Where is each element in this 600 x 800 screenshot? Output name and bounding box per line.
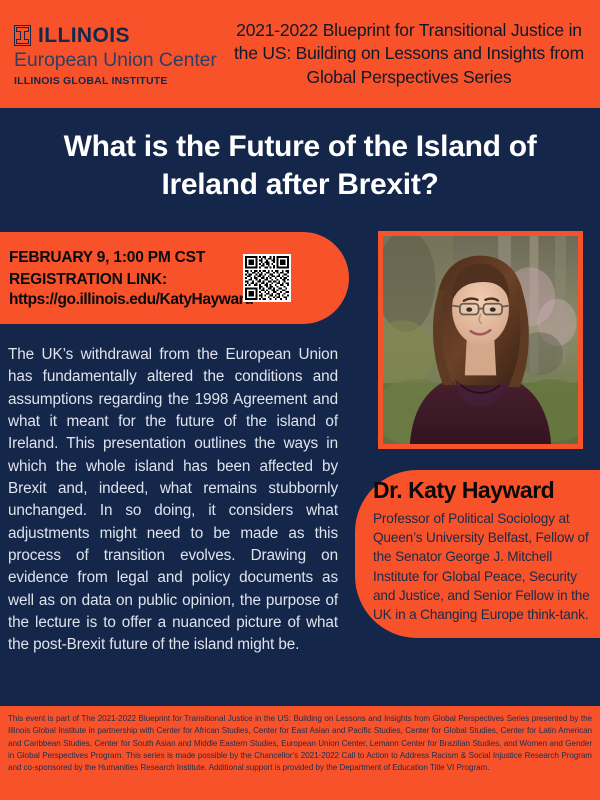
- poster-header: ILLINOIS European Union Center ILLINOIS …: [0, 0, 600, 108]
- logo-unit-name: European Union Center: [14, 49, 228, 71]
- footer-credits: This event is part of The 2021-2022 Blue…: [8, 713, 592, 774]
- registration-link-label: REGISTRATION LINK:: [9, 269, 240, 291]
- illinois-block-i-icon: [14, 25, 31, 46]
- logo-illinois-wordmark: ILLINOIS: [38, 25, 130, 46]
- illinois-euc-logo: ILLINOIS European Union Center ILLINOIS …: [0, 21, 228, 87]
- logo-parent-org: ILLINOIS GLOBAL INSTITUTE: [14, 75, 228, 87]
- registration-box: FEBRUARY 9, 1:00 PM CST REGISTRATION LIN…: [0, 232, 349, 324]
- event-title-banner: What is the Future of the Island of Irel…: [0, 112, 600, 220]
- registration-url[interactable]: https://go.illinois.edu/KatyHayward: [9, 291, 240, 309]
- event-poster: ILLINOIS European Union Center ILLINOIS …: [0, 0, 600, 800]
- event-title: What is the Future of the Island of Irel…: [22, 128, 578, 205]
- speaker-bio: Professor of Political Sociology at Quee…: [373, 509, 596, 625]
- speaker-photo: [378, 231, 583, 449]
- speaker-name: Dr. Katy Hayward: [373, 478, 596, 504]
- registration-text: FEBRUARY 9, 1:00 PM CST REGISTRATION LIN…: [0, 247, 240, 309]
- event-description: The UK’s withdrawal from the European Un…: [8, 344, 338, 657]
- logo-wordmark-row: ILLINOIS: [14, 25, 228, 46]
- poster-footer: This event is part of The 2021-2022 Blue…: [0, 706, 600, 800]
- qr-code-icon[interactable]: [243, 254, 291, 302]
- series-title: 2021-2022 Blueprint for Transitional Jus…: [228, 19, 600, 89]
- event-datetime: FEBRUARY 9, 1:00 PM CST: [9, 247, 240, 269]
- speaker-info-panel: Dr. Katy Hayward Professor of Political …: [355, 470, 600, 638]
